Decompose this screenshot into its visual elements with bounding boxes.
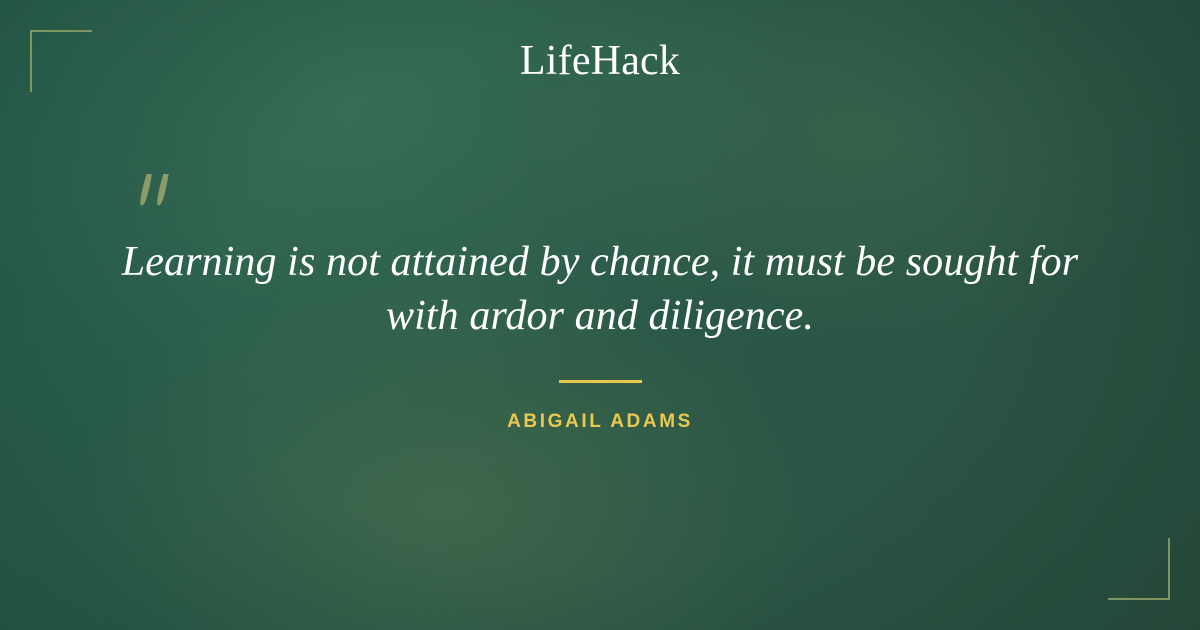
author-wrap: ABIGAIL ADAMS [0,412,1200,432]
corner-bracket-bottom-right-icon [1108,538,1170,600]
author-name: ABIGAIL ADAMS [507,411,693,432]
brand-name: LifeHack [520,38,680,84]
divider-wrap [0,380,1200,383]
quote-text: Learning is not attained by chance, it m… [100,236,1100,344]
quote-block: Learning is not attained by chance, it m… [100,236,1100,344]
brand-logo: LifeHack [0,40,1200,82]
quotation-mark-icon [133,172,179,220]
divider [559,380,642,383]
quote-card: LifeHack Learning is not attained by cha… [0,0,1200,630]
